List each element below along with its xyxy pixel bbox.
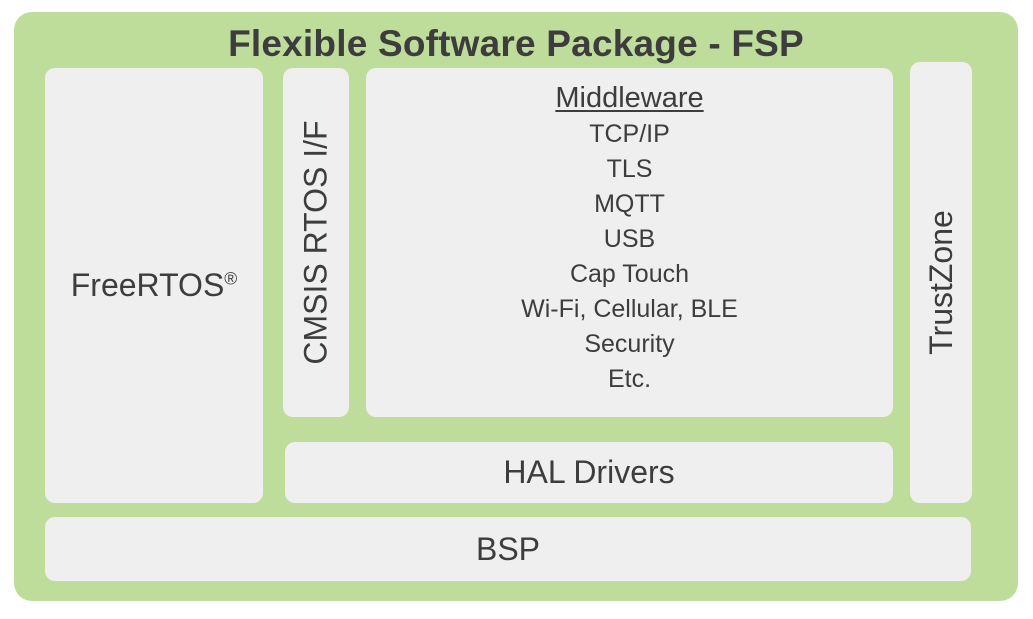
fsp-architecture-diagram: Flexible Software Package - FSP FreeRTOS… <box>0 0 1033 619</box>
middleware-item: Security <box>521 327 738 362</box>
middleware-item: TCP/IP <box>521 117 738 152</box>
middleware-item: Wi-Fi, Cellular, BLE <box>521 292 738 327</box>
registered-trademark-icon: ® <box>224 268 237 288</box>
block-cmsis-rtos-interface: CMSIS RTOS I/F <box>283 68 349 417</box>
middleware-item: TLS <box>521 152 738 187</box>
cmsis-rtos-interface-label: CMSIS RTOS I/F <box>298 120 335 364</box>
middleware-item: MQTT <box>521 187 738 222</box>
block-bsp: BSP <box>45 517 971 581</box>
diagram-title: Flexible Software Package - FSP <box>14 22 1018 66</box>
trustzone-label: TrustZone <box>923 210 960 355</box>
middleware-item: Cap Touch <box>521 257 738 292</box>
middleware-item: USB <box>521 222 738 257</box>
block-freertos: FreeRTOS® <box>45 68 263 503</box>
middleware-item: Etc. <box>521 362 738 397</box>
block-trustzone: TrustZone <box>910 62 972 503</box>
middleware-heading: Middleware <box>555 81 703 115</box>
middleware-item-list: TCP/IP TLS MQTT USB Cap Touch Wi-Fi, Cel… <box>521 117 738 397</box>
hal-drivers-label: HAL Drivers <box>503 454 674 491</box>
block-middleware: Middleware TCP/IP TLS MQTT USB Cap Touch… <box>366 68 893 417</box>
block-hal-drivers: HAL Drivers <box>285 442 893 503</box>
freertos-label: FreeRTOS® <box>71 267 238 304</box>
freertos-label-text: FreeRTOS <box>71 267 225 303</box>
bsp-label: BSP <box>476 531 540 568</box>
